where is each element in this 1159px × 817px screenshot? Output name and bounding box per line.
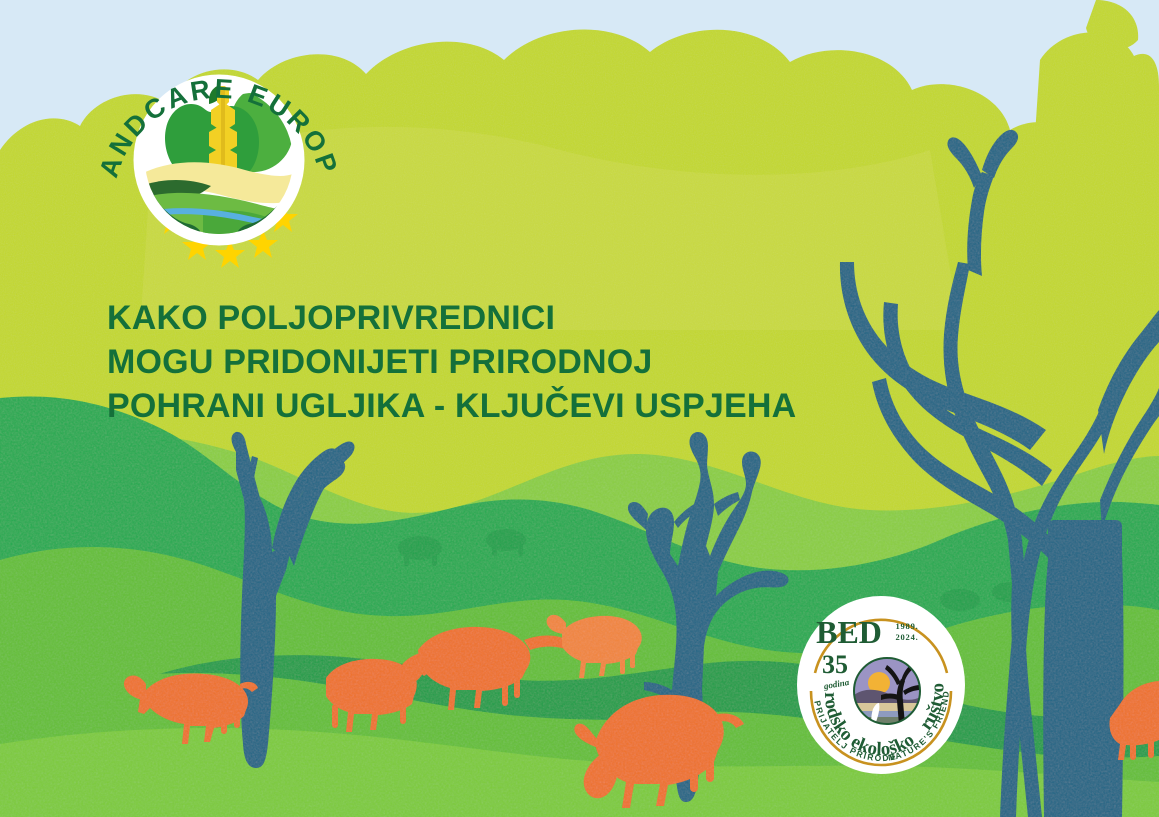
landcare-europe-logo: LANDCARE EUROPE	[93, 28, 345, 280]
bed-logo: BED 35 godina 1989. 2024. Brodsko ekološ…	[795, 595, 967, 775]
title-line-1: KAKO POLJOPRIVREDNICI	[107, 296, 807, 340]
bed-anniversary-number: 35	[822, 650, 848, 679]
brochure-cover: LANDCARE EUROPE KAKO POLJOPRIVREDNICI MO…	[0, 0, 1159, 817]
bed-year-end: 2024.	[895, 632, 918, 642]
cover-title: KAKO POLJOPRIVREDNICI MOGU PRIDONIJETI P…	[107, 296, 807, 428]
title-line-2: MOGU PRIDONIJETI PRIRODNOJ	[107, 340, 807, 384]
title-line-3: POHRANI UGLJIKA - KLJUČEVI USPJEHA	[107, 384, 807, 428]
bed-year-start: 1989.	[895, 621, 918, 631]
bed-acronym: BED	[816, 614, 882, 650]
canopy-lobe-right	[1030, 32, 1159, 210]
field-strip	[854, 703, 920, 711]
